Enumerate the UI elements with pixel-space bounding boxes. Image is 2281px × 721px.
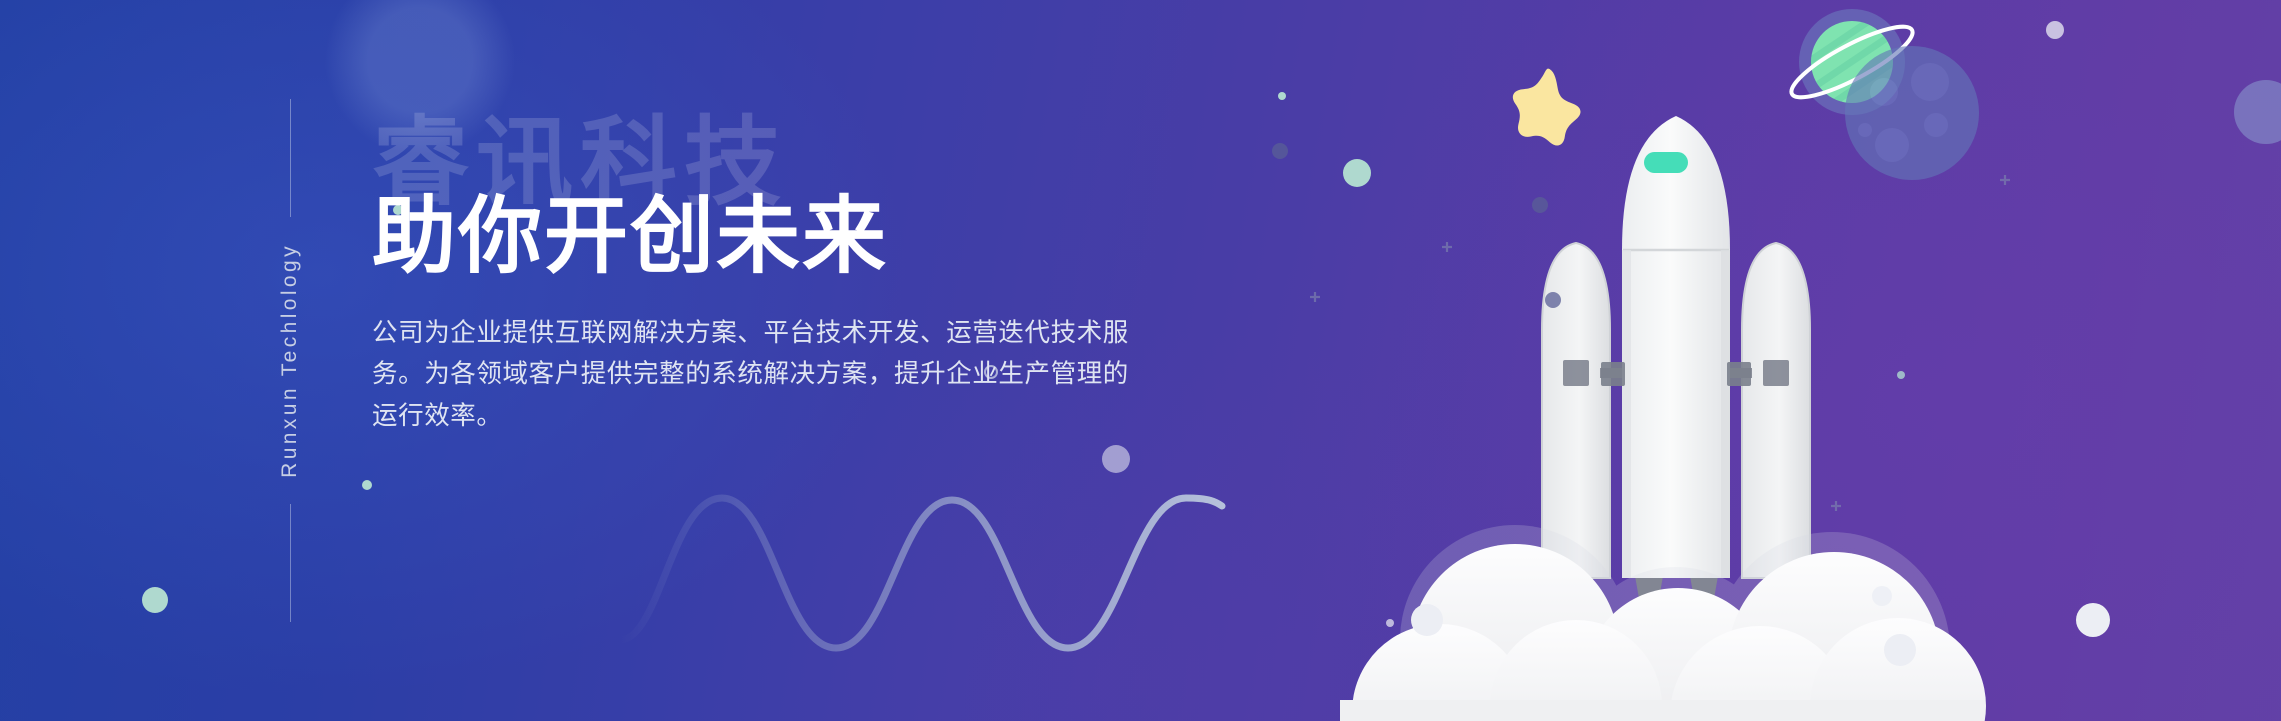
brand-rule-top — [290, 99, 291, 217]
description-paragraph: 公司为企业提供互联网解决方案、平台技术开发、运营迭代技术服务。为各领域客户提供完… — [372, 313, 1144, 437]
sparkle-icons — [1310, 175, 2010, 511]
hero-banner: Runxun Techlology 睿讯科技 助你开创未来 公司为企业提供互联网… — [0, 0, 2281, 721]
brand-rule-bottom — [290, 504, 291, 622]
page-title: 助你开创未来 — [372, 122, 1172, 281]
vertical-brand: Runxun Techlology — [268, 0, 312, 721]
white-dots — [1102, 21, 2110, 666]
brand-vertical-text: Runxun Techlology — [278, 243, 302, 478]
copy-block: 睿讯科技 助你开创未来 公司为企业提供互联网解决方案、平台技术开发、运营迭代技术… — [372, 122, 1172, 437]
